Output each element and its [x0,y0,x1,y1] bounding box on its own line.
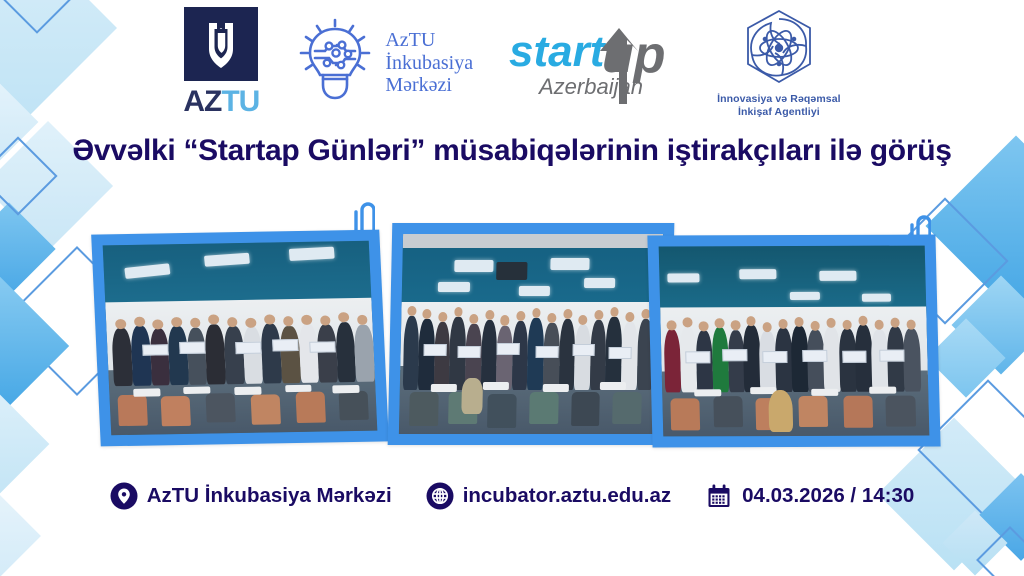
startup-azerbaijan-logo: start up Azerbaijan [507,23,683,103]
info-website-label: incubator.aztu.edu.az [463,484,671,508]
globe-icon [426,482,454,510]
aztu-wordmark-az: AZ [183,85,221,119]
info-location-label: AzTU İnkubasiya Mərkəzi [147,484,392,508]
idda-line-1: İnnovasiya və Rəqəmsal [717,93,841,106]
info-location: AzTU İnkubasiya Mərkəzi [110,482,392,510]
incubation-line-3: Mərkəzi [385,74,473,96]
lightbulb-circuit-icon [293,15,377,112]
info-bar: AzTU İnkubasiya Mərkəzi incubator.aztu.e… [0,472,1024,520]
decor-diamond [942,510,1007,575]
gallery-photo-image [659,246,930,437]
decor-diamond-outline [976,526,1024,576]
startup-wordmark-icon: start up Azerbaijan [507,20,683,106]
page-title: Əvvəlki “Startap Günləri” müsabiqələrini… [0,134,1024,168]
calendar-icon [705,482,733,510]
info-datetime: 04.03.2026 / 14:30 [705,482,914,510]
location-pin-icon [110,482,138,510]
startup-subtitle: Azerbaijan [537,74,643,99]
info-website[interactable]: incubator.aztu.edu.az [426,482,671,510]
logo-bar: AZ TU [0,0,1024,126]
gallery-photo-image [103,241,378,435]
aztu-incubation-center-logo: AzTU İnkubasiya Mərkəzi [293,15,473,112]
gallery-photo-frame[interactable] [91,230,389,447]
startup-word-main: start [509,27,607,76]
info-datetime-label: 04.03.2026 / 14:30 [742,484,914,508]
aztu-shield-icon [184,7,258,81]
incubation-line-2: İnkubasiya [385,52,473,74]
gallery-photo-image [399,234,663,434]
photo-gallery [0,195,1024,465]
gallery-photo-frame[interactable] [388,223,675,445]
idda-line-2: İnkişaf Agentliyi [717,106,841,119]
idda-logo: İnnovasiya və Rəqəmsal İnkişaf Agentliyi [717,7,841,119]
gallery-photo-frame[interactable] [647,235,940,448]
poster-canvas: AZ TU [0,0,1024,576]
incubation-line-1: AzTU [385,29,473,51]
aztu-logo: AZ TU [183,7,259,119]
aztu-wordmark-tu: TU [221,85,259,119]
hexagon-swirl-atom-icon [740,7,818,92]
